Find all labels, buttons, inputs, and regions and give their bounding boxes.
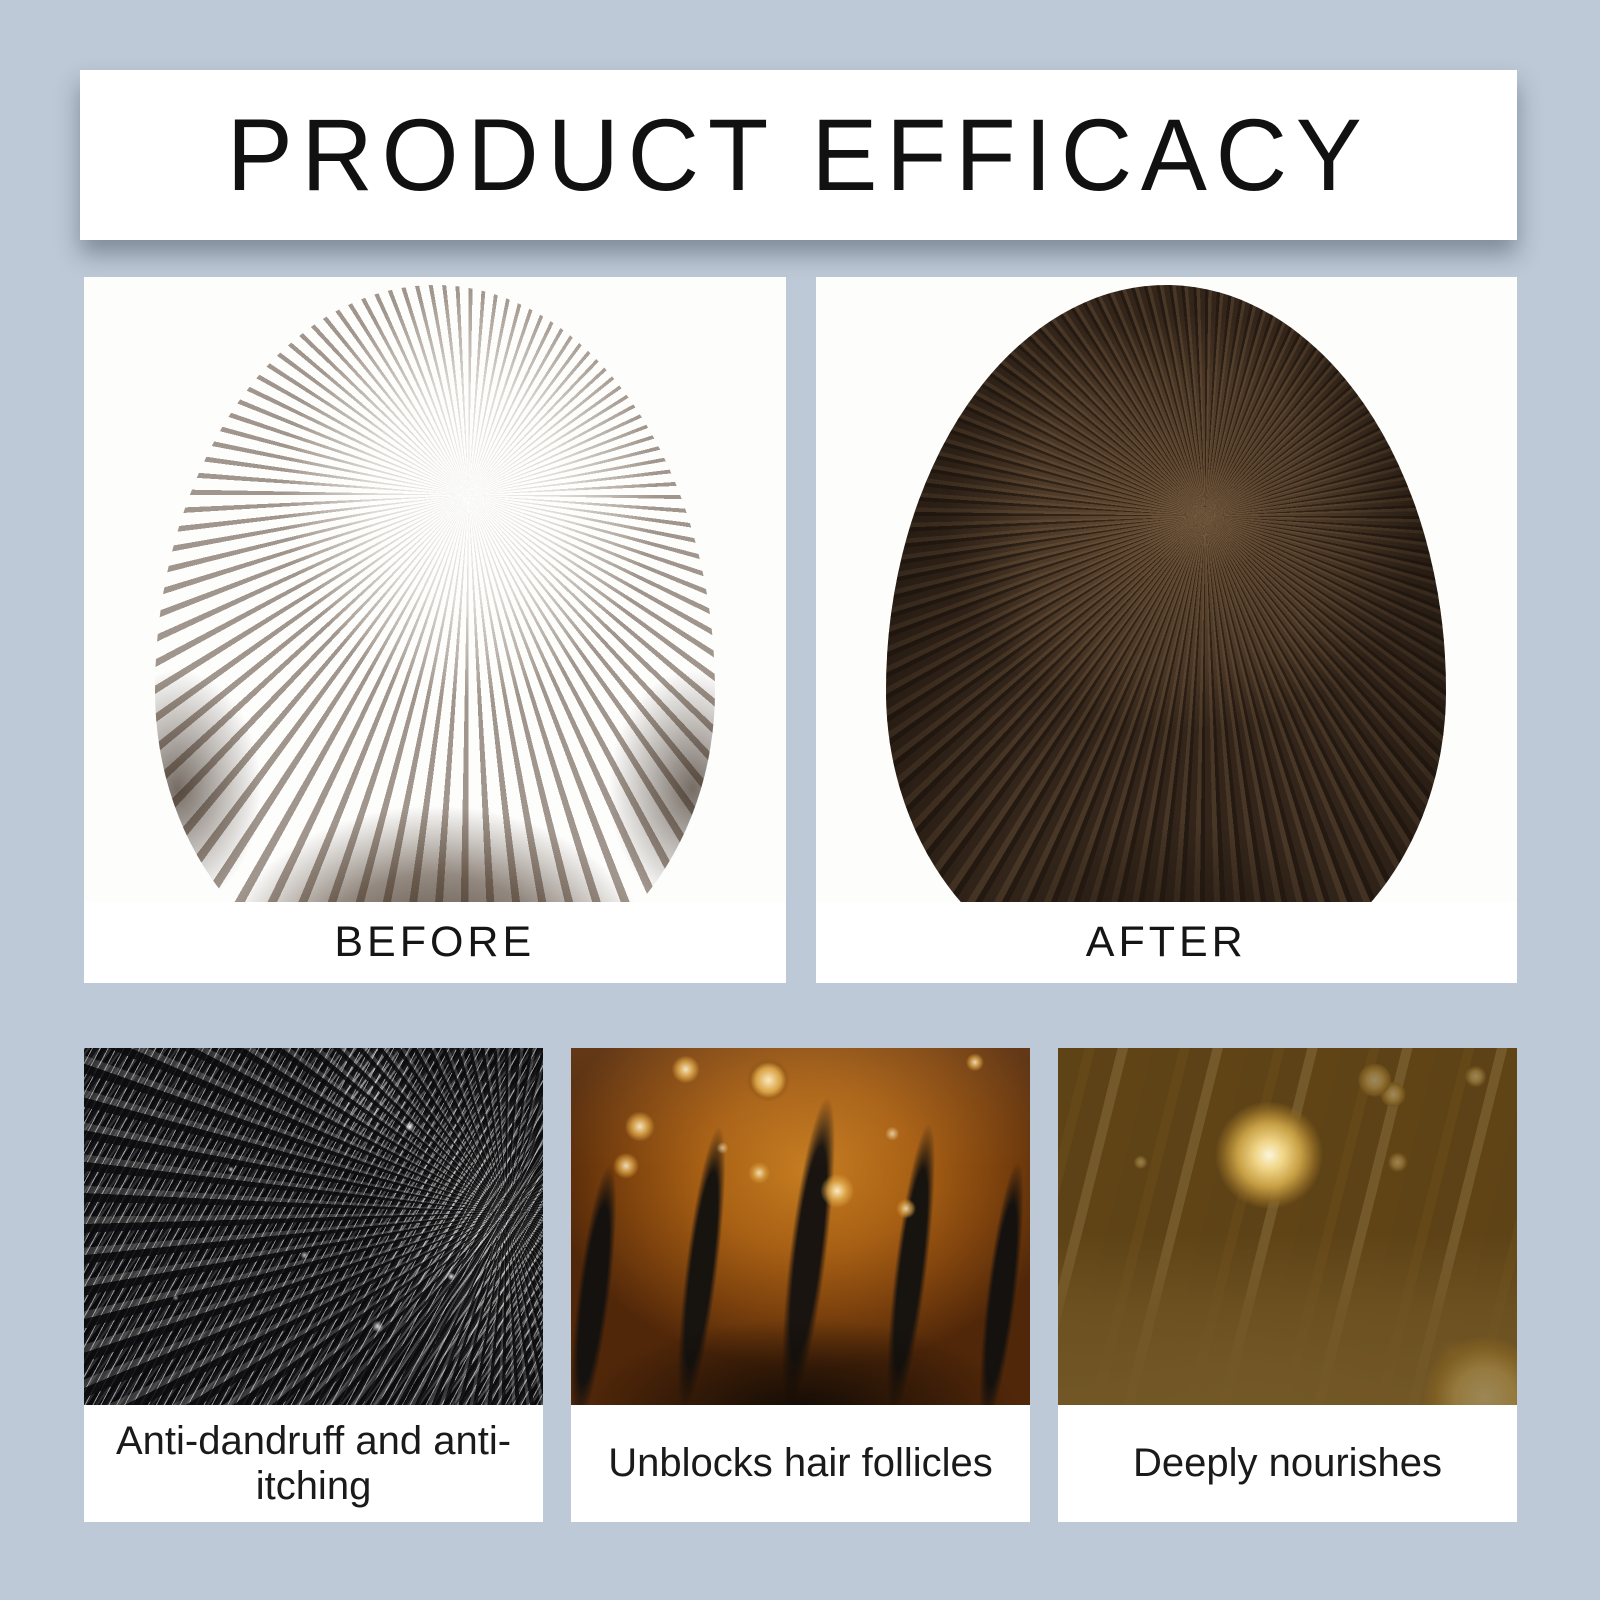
after-caption: AFTER [816,902,1518,983]
title-card: PRODUCT EFFICACY [80,70,1517,240]
scalp-photo-before [84,277,786,902]
benefit-card-unblocks-follicles: Unblocks hair follicles [571,1048,1030,1522]
nourish-render [1058,1048,1517,1405]
page-title: PRODUCT EFFICACY [227,104,1371,206]
after-label: AFTER [1086,918,1247,967]
benefit-label-deeply-nourishes: Deeply nourishes [1133,1441,1442,1486]
before-label: BEFORE [334,918,535,967]
before-after-comparison: BEFORE AFTER [84,277,1517,983]
scalp-photo-after [816,277,1518,902]
ear-left [898,897,944,902]
benefit-card-anti-dandruff: Anti-dandruff and anti-itching [84,1048,543,1522]
dandruff-macro-photo [84,1048,543,1405]
benefit-caption-unblocks-follicles: Unblocks hair follicles [571,1405,1030,1522]
ear-right [1388,897,1434,902]
after-card: AFTER [816,277,1518,983]
ear-left [167,897,213,902]
head-illustration-before [155,285,715,902]
head-illustration-after [886,285,1446,902]
benefits-row: Anti-dandruff and anti-itching Unblocks … [84,1048,1517,1522]
follicle-render [571,1048,1030,1405]
benefit-caption-anti-dandruff: Anti-dandruff and anti-itching [84,1405,543,1522]
ear-right [657,897,703,902]
benefit-label-anti-dandruff: Anti-dandruff and anti-itching [98,1419,529,1509]
benefit-label-unblocks-follicles: Unblocks hair follicles [608,1441,993,1486]
benefit-caption-deeply-nourishes: Deeply nourishes [1058,1405,1517,1522]
before-caption: BEFORE [84,902,786,983]
benefit-card-deeply-nourishes: Deeply nourishes [1058,1048,1517,1522]
before-card: BEFORE [84,277,786,983]
product-efficacy-poster: PRODUCT EFFICACY BEFORE AFTE [0,0,1600,1600]
